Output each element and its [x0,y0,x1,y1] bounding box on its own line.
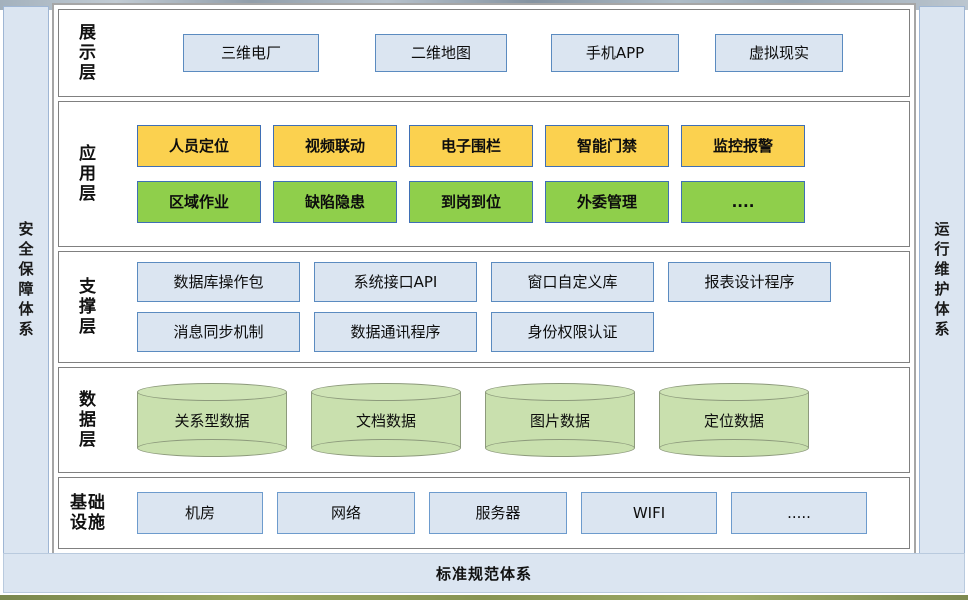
layer-presentation: 展示层三维电厂二维地图手机APP虚拟现实 [58,9,910,97]
node-infrastructure[interactable]: 网络 [277,492,415,534]
cylinder-label: 定位数据 [659,383,809,457]
node-infrastructure[interactable]: 服务器 [429,492,567,534]
node-application[interactable]: .... [681,181,805,223]
data-cylinder[interactable]: 文档数据 [311,383,461,457]
node-presentation[interactable]: 手机APP [551,34,679,72]
right-band-operations-maintenance: 运行维护体系 [919,6,965,556]
layer-row: 数据库操作包系统接口API窗口自定义库报表设计程序 [117,262,909,302]
cylinder-label: 关系型数据 [137,383,287,457]
layer-row: 人员定位视频联动电子围栏智能门禁监控报警 [117,125,909,167]
node-application[interactable]: 智能门禁 [545,125,669,167]
node-application[interactable]: 到岗到位 [409,181,533,223]
layer-body-application: 人员定位视频联动电子围栏智能门禁监控报警区域作业缺陷隐患到岗到位外委管理.... [117,102,909,246]
node-support[interactable]: 报表设计程序 [668,262,831,302]
left-band-label: 安全保障体系 [16,221,37,341]
layer-row: 关系型数据文档数据图片数据定位数据 [117,383,909,457]
node-application[interactable]: 视频联动 [273,125,397,167]
layer-row: 机房网络服务器WIFI..... [117,492,909,534]
cylinder-label: 文档数据 [311,383,461,457]
layer-infrastructure: 基础设施机房网络服务器WIFI..... [58,477,910,549]
layer-row: 消息同步机制数据通讯程序身份权限认证 [117,312,909,352]
cylinder-label: 图片数据 [485,383,635,457]
layer-label-application: 应用层 [59,144,117,204]
layer-application: 应用层人员定位视频联动电子围栏智能门禁监控报警区域作业缺陷隐患到岗到位外委管理.… [58,101,910,247]
layer-label-data: 数据层 [59,390,117,450]
node-support[interactable]: 窗口自定义库 [491,262,654,302]
node-presentation[interactable]: 二维地图 [375,34,507,72]
node-application[interactable]: 监控报警 [681,125,805,167]
layer-label-support: 支撑层 [59,277,117,337]
layer-body-data: 关系型数据文档数据图片数据定位数据 [117,368,909,472]
layer-data: 数据层关系型数据文档数据图片数据定位数据 [58,367,910,473]
layer-row: 区域作业缺陷隐患到岗到位外委管理.... [117,181,909,223]
layer-row: 三维电厂二维地图手机APP虚拟现实 [117,34,909,72]
layer-body-support: 数据库操作包系统接口API窗口自定义库报表设计程序消息同步机制数据通讯程序身份权… [117,252,909,362]
data-cylinder[interactable]: 关系型数据 [137,383,287,457]
node-application[interactable]: 外委管理 [545,181,669,223]
node-application[interactable]: 区域作业 [137,181,261,223]
node-application[interactable]: 缺陷隐患 [273,181,397,223]
node-support[interactable]: 数据库操作包 [137,262,300,302]
left-band-security-assurance: 安全保障体系 [3,6,49,556]
node-support[interactable]: 数据通讯程序 [314,312,477,352]
bottom-bar-standards: 标准规范体系 [3,553,965,593]
bottom-bar-label: 标准规范体系 [436,563,532,584]
node-support[interactable]: 消息同步机制 [137,312,300,352]
node-application[interactable]: 人员定位 [137,125,261,167]
layer-label-presentation: 展示层 [59,23,117,83]
node-infrastructure[interactable]: WIFI [581,492,717,534]
layer-stack: 展示层三维电厂二维地图手机APP虚拟现实应用层人员定位视频联动电子围栏智能门禁监… [52,3,916,556]
node-support[interactable]: 系统接口API [314,262,477,302]
layer-support: 支撑层数据库操作包系统接口API窗口自定义库报表设计程序消息同步机制数据通讯程序… [58,251,910,363]
layer-label-infrastructure: 基础设施 [59,493,117,533]
bottom-photo-strip [0,595,968,600]
node-application[interactable]: 电子围栏 [409,125,533,167]
right-band-label: 运行维护体系 [932,221,953,341]
data-cylinder[interactable]: 定位数据 [659,383,809,457]
data-cylinder[interactable]: 图片数据 [485,383,635,457]
node-presentation[interactable]: 虚拟现实 [715,34,843,72]
architecture-diagram: 安全保障体系 运行维护体系 展示层三维电厂二维地图手机APP虚拟现实应用层人员定… [0,0,968,600]
node-infrastructure[interactable]: 机房 [137,492,263,534]
node-support[interactable]: 身份权限认证 [491,312,654,352]
layer-body-presentation: 三维电厂二维地图手机APP虚拟现实 [117,10,909,96]
node-presentation[interactable]: 三维电厂 [183,34,319,72]
node-infrastructure[interactable]: ..... [731,492,867,534]
layer-body-infrastructure: 机房网络服务器WIFI..... [117,478,909,548]
